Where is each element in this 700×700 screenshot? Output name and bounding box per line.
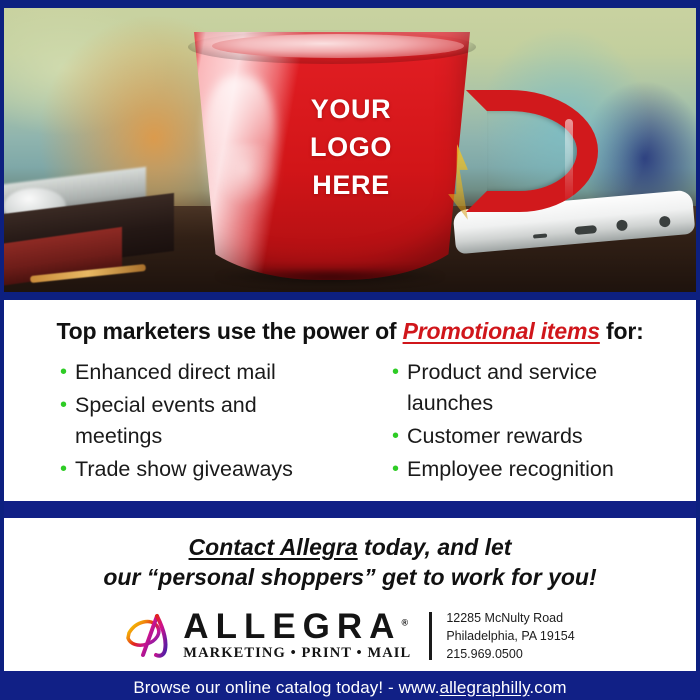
list-item: • Product and service launches xyxy=(392,357,696,419)
logo-address-divider xyxy=(429,612,432,660)
address-phone[interactable]: 215.969.0500 xyxy=(446,645,574,663)
list-item-label: Enhanced direct mail xyxy=(75,357,276,388)
address-city-state-zip: Philadelphia, PA 19154 xyxy=(446,627,574,645)
address-street: 12285 McNulty Road xyxy=(446,609,574,627)
mug-text-line-2: LOGO xyxy=(266,128,436,166)
list-item: • Enhanced direct mail xyxy=(60,357,364,388)
allegra-wordmark: ALLEGRA® MARKETING • PRINT • MAIL xyxy=(183,609,411,662)
content-band: Top marketers use the power of Promotion… xyxy=(0,300,700,501)
red-coffee-mug: YOUR LOGO HERE xyxy=(182,32,492,280)
phone-port-mic xyxy=(659,216,671,228)
cta-line-2: our “personal shoppers” get to work for … xyxy=(4,562,696,592)
registered-trademark-icon: ® xyxy=(401,618,408,628)
footer-prefix: Browse our online catalog today! - www. xyxy=(133,678,439,697)
allegra-tagline: MARKETING • PRINT • MAIL xyxy=(183,646,411,662)
list-item: • Employee recognition xyxy=(392,454,696,485)
list-item-label: Employee recognition xyxy=(407,454,614,485)
photo-bottom-navy-rule xyxy=(0,292,700,300)
address-block: 12285 McNulty Road Philadelphia, PA 1915… xyxy=(446,609,574,664)
headline-emphasis: Promotional items xyxy=(403,318,600,344)
bullet-dot-icon: • xyxy=(60,454,67,484)
allegra-logo-block: ALLEGRA® MARKETING • PRINT • MAIL 12285 … xyxy=(4,599,696,672)
mug-rim-inner xyxy=(212,34,464,58)
list-item-label: Customer rewards xyxy=(407,421,583,452)
bullet-column-left: • Enhanced direct mail • Special events … xyxy=(4,357,364,487)
flyer-page: YOUR LOGO HERE Top marketers use the pow… xyxy=(0,0,700,700)
footer-catalog-link[interactable]: Browse our online catalog today! - www.a… xyxy=(133,678,566,698)
list-item: • Trade show giveaways xyxy=(60,454,364,485)
headline: Top marketers use the power of Promotion… xyxy=(4,300,696,355)
allegra-name-text: ALLEGRA xyxy=(183,607,401,646)
hero-photo-section: YOUR LOGO HERE xyxy=(0,8,700,292)
mug-logo-placeholder-text: YOUR LOGO HERE xyxy=(266,90,436,204)
footer-bar: Browse our online catalog today! - www.a… xyxy=(0,671,700,700)
bullet-dot-icon: • xyxy=(60,390,67,420)
cta-line-1: Contact Allegra today, and let xyxy=(4,532,696,562)
footer-suffix: .com xyxy=(529,678,566,697)
bullet-dot-icon: • xyxy=(60,357,67,387)
headline-prefix: Top marketers use the power of xyxy=(56,318,402,344)
mug-rim xyxy=(188,30,476,64)
cta-line-1-rest: today, and let xyxy=(358,534,512,560)
list-item-label: Product and service launches xyxy=(407,357,677,419)
list-item-label: Trade show giveaways xyxy=(75,454,293,485)
cta-contact-link[interactable]: Contact Allegra xyxy=(189,534,358,560)
mug-text-line-1: YOUR xyxy=(266,90,436,128)
benefits-bullet-lists: • Enhanced direct mail • Special events … xyxy=(4,355,696,501)
phone-port-jack xyxy=(616,219,628,231)
phone-port-usb xyxy=(574,225,597,235)
list-item-label: Special events and meetings xyxy=(75,390,345,452)
bullet-dot-icon: • xyxy=(392,421,399,451)
headline-suffix: for: xyxy=(600,318,644,344)
list-item: • Customer rewards xyxy=(392,421,696,452)
bullet-dot-icon: • xyxy=(392,454,399,484)
mid-navy-divider xyxy=(0,501,700,518)
bullet-dot-icon: • xyxy=(392,357,399,387)
footer-domain: allegraphilly xyxy=(440,678,530,697)
bullet-column-right: • Product and service launches • Custome… xyxy=(364,357,696,487)
call-to-action: Contact Allegra today, and let our “pers… xyxy=(4,518,696,599)
contact-band: Contact Allegra today, and let our “pers… xyxy=(0,518,700,671)
top-navy-rule xyxy=(0,0,700,8)
list-item: • Special events and meetings xyxy=(60,390,364,452)
allegra-swoosh-a-icon xyxy=(125,613,177,659)
allegra-name: ALLEGRA® xyxy=(183,609,411,644)
phone-port-speaker xyxy=(533,233,547,238)
mug-shadow xyxy=(216,270,444,286)
mug-text-line-3: HERE xyxy=(266,166,436,204)
